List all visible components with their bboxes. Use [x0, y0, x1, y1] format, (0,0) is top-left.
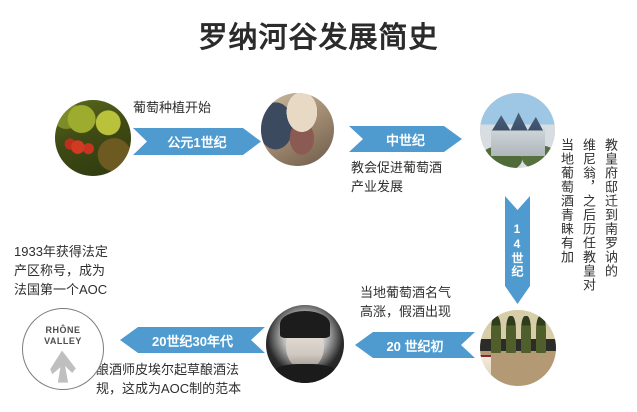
- arrow-1930s[interactable]: 20世纪30年代: [120, 327, 265, 353]
- caption-church-line2: 产业发展: [351, 177, 471, 196]
- caption-pierre-line2: 规，这成为AOC制的范本: [96, 379, 286, 398]
- rhone-valley-logo: RHÔNE VALLEY: [22, 308, 104, 390]
- bottle-label-shape: [480, 355, 491, 383]
- wine-bottles-photo: [480, 310, 556, 386]
- left-note-line1: 1933年获得法定: [14, 242, 144, 261]
- caption-fake-wine-line2: 高涨，假酒出现: [360, 302, 490, 321]
- chateau-photo: [480, 93, 555, 168]
- bottle-shape: [536, 316, 546, 352]
- bottle-shape: [506, 316, 516, 352]
- medieval-painting-photo: [261, 93, 334, 166]
- vineyard-photo-inner: [55, 100, 131, 176]
- rhone-valley-logo-text: RHÔNE VALLEY: [23, 325, 103, 347]
- arrow-1930s-label: 20世纪30年代: [152, 331, 233, 350]
- bottle-shape: [521, 316, 531, 352]
- logo-line-1: RHÔNE: [23, 325, 103, 336]
- bottles-photo-inner: [480, 310, 556, 386]
- arrow-1st-century[interactable]: 公元1世纪: [133, 128, 261, 155]
- arrow-early-20th-century[interactable]: 20 世纪初: [355, 332, 475, 358]
- chateau-photo-inner: [480, 93, 555, 168]
- arrow-14th-century[interactable]: 14世纪: [505, 196, 530, 304]
- side-note-column-3: 当地葡萄酒青睐有加: [556, 138, 577, 308]
- arrow-early-20th-century-label: 20 世纪初: [386, 336, 443, 355]
- caption-pierre-line1: 酿酒师皮埃尔起草酿酒法: [96, 360, 286, 379]
- arrow-14th-century-label: 14世纪: [509, 222, 526, 278]
- caption-fake-wine-line1: 当地葡萄酒名气: [360, 283, 490, 302]
- vineyard-photo: [55, 100, 131, 176]
- left-note-line2: 产区称号，成为: [14, 261, 144, 280]
- slide-canvas: 罗纳河谷发展简史 葡萄种植开始 公元1世纪 中世纪 教会促进葡萄酒 产业发展 教…: [0, 0, 637, 412]
- bottle-shape: [491, 316, 501, 352]
- logo-line-2: VALLEY: [23, 336, 103, 347]
- caption-grape-planting: 葡萄种植开始: [133, 98, 273, 117]
- side-note-column-2: 维尼翁，之后历任教皇对: [578, 138, 599, 308]
- chateau-roof-shape: [492, 111, 543, 131]
- page-title: 罗纳河谷发展简史: [0, 14, 637, 56]
- logo-figure-icon: [50, 351, 76, 383]
- chateau-body-shape: [491, 129, 545, 156]
- arrow-1st-century-label: 公元1世纪: [167, 132, 226, 151]
- medieval-photo-inner: [261, 93, 334, 166]
- caption-church-line1: 教会促进葡萄酒: [351, 158, 471, 177]
- arrow-middle-ages[interactable]: 中世纪: [349, 126, 462, 152]
- portrait-hair-shape: [280, 311, 330, 338]
- side-note-column-1: 教皇府邸迁到南罗讷的: [600, 138, 621, 308]
- left-note-line3: 法国第一个AOC: [14, 280, 144, 299]
- arrow-middle-ages-label: 中世纪: [386, 130, 425, 149]
